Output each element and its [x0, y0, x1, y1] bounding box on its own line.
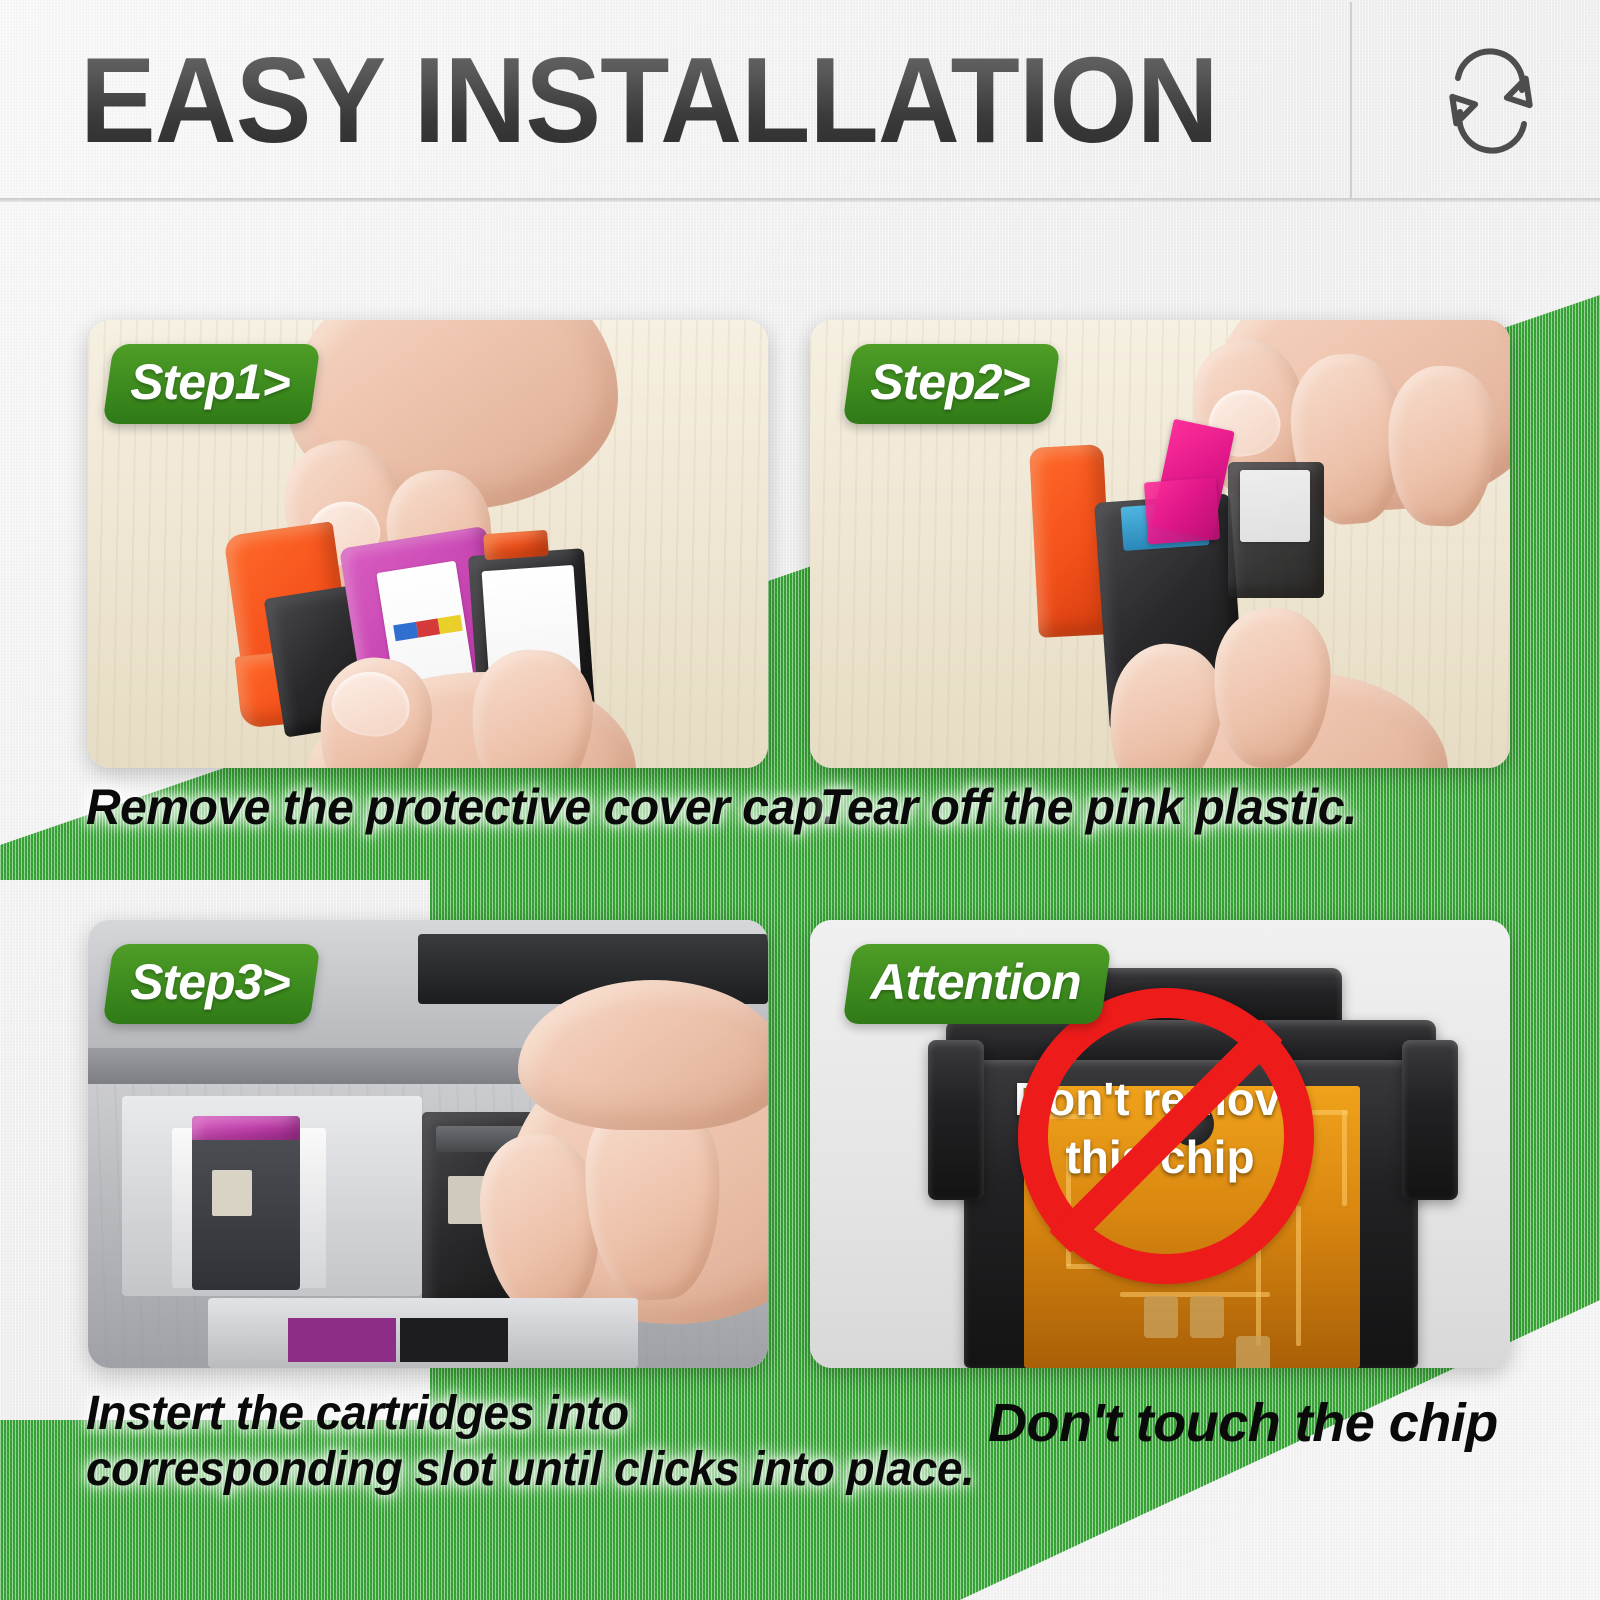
step2-badge: Step2> [842, 344, 1061, 424]
background-cartridge-label [1240, 470, 1310, 542]
pink-tape-lower [1144, 478, 1220, 545]
step2-caption: Tear off the pink plastic. [820, 778, 1357, 836]
cartridge-label-patch [212, 1170, 252, 1216]
infographic-page: EASY INSTALLATION [0, 0, 1600, 1600]
prohibition-sign-bar [1049, 1019, 1282, 1252]
attention-photo-card: Don't remove this chip Attention [810, 920, 1510, 1368]
step3-caption-line2: corresponding slot until clicks into pla… [86, 1442, 974, 1498]
step3-badge: Step3> [102, 944, 321, 1024]
header-divider [1350, 2, 1352, 198]
step2-photo-card: Step2> [810, 320, 1510, 768]
step1-caption: Remove the protective cover cap. [86, 778, 836, 836]
recycle-arrows-icon [1418, 48, 1564, 154]
prohibition-sign-icon [1018, 988, 1314, 1284]
black-cartridge-icon [400, 1318, 508, 1362]
step3-caption: Instert the cartridges into correspondin… [86, 1386, 974, 1497]
installed-tricolor-top [192, 1116, 300, 1142]
step3-photo-card: Step3> [88, 920, 768, 1368]
step3-caption-line1: Instert the cartridges into [86, 1386, 974, 1442]
step1-photo-card: Step1> [88, 320, 768, 768]
step1-badge: Step1> [102, 344, 321, 424]
attention-badge: Attention [842, 944, 1112, 1024]
page-title: EASY INSTALLATION [80, 30, 1218, 170]
color-cartridge-icon [288, 1318, 396, 1362]
header-rule [0, 198, 1600, 202]
black-cartridge-orange-tab [483, 530, 549, 560]
header: EASY INSTALLATION [0, 0, 1600, 200]
attention-caption: Don't touch the chip [988, 1392, 1498, 1455]
